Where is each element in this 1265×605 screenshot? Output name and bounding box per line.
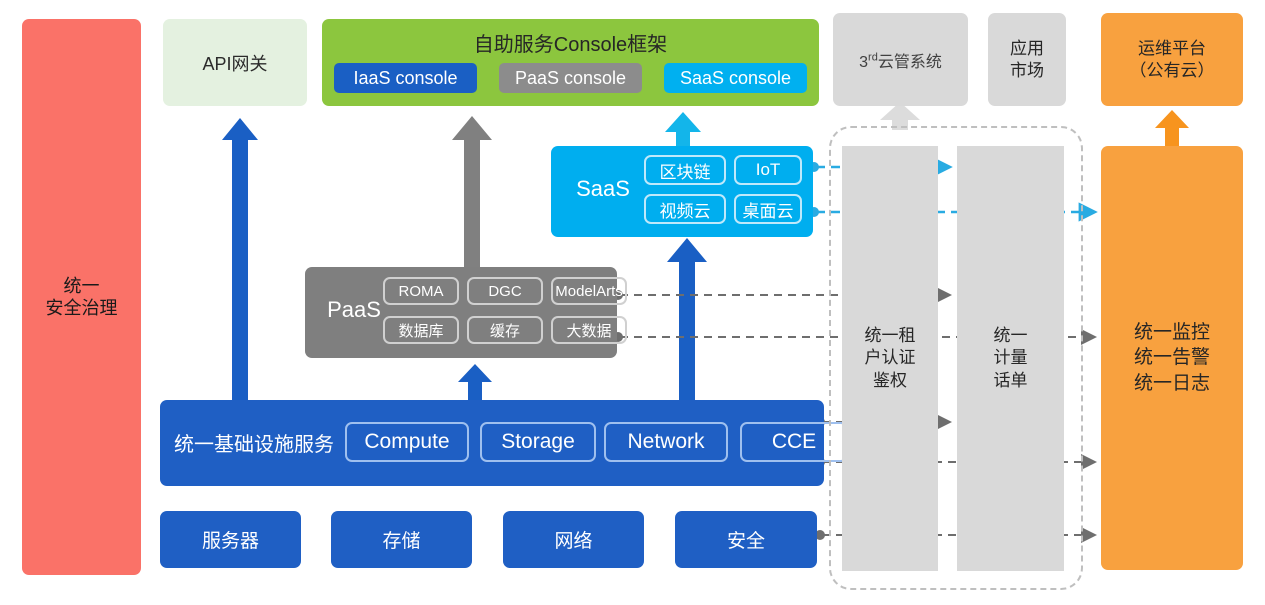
- saas-service-desktop-cloud[interactable]: 桌面云: [734, 194, 802, 224]
- third-party-cloud-management-box[interactable]: 3rd云管系统: [833, 13, 968, 106]
- infra-service-compute[interactable]: Compute: [345, 422, 469, 462]
- infra-service-network[interactable]: Network: [604, 422, 728, 462]
- third-party-rest: 云管系统: [878, 54, 942, 71]
- hardware-server-box[interactable]: 服务器: [160, 511, 301, 568]
- unified-metering-billing-column[interactable]: 统一 计量 话单: [957, 146, 1064, 571]
- saas-service-iot[interactable]: IoT: [734, 155, 802, 185]
- third-party-ordinal-suffix: rd: [868, 51, 878, 63]
- saas-layer-box[interactable]: SaaS 区块链 IoT 视频云 桌面云: [551, 146, 813, 237]
- app-market-box[interactable]: 应用 市场: [988, 13, 1066, 106]
- paas-service-modelarts[interactable]: ModelArts: [551, 277, 627, 305]
- arrow-paas-to-console: [452, 116, 492, 268]
- saas-service-blockchain[interactable]: 区块链: [644, 155, 726, 185]
- unified-infrastructure-service-bar[interactable]: 统一基础设施服务 Compute Storage Network CCE: [160, 400, 824, 486]
- paas-service-cache[interactable]: 缓存: [467, 316, 543, 344]
- unified-tenant-auth-column[interactable]: 统一租 户认证 鉴权: [842, 146, 938, 571]
- unified-security-governance-panel[interactable]: 统一 安全治理: [22, 19, 141, 575]
- arrow-infra-to-api-gateway: [222, 118, 258, 400]
- api-gateway-box[interactable]: API网关: [163, 19, 307, 106]
- hardware-storage-box[interactable]: 存储: [331, 511, 472, 568]
- self-service-console-framework[interactable]: 自助服务Console框架 IaaS console PaaS console …: [322, 19, 819, 106]
- infra-service-storage[interactable]: Storage: [480, 422, 596, 462]
- unified-monitoring-alarm-log-panel[interactable]: 统一监控 统一告警 统一日志: [1101, 146, 1243, 570]
- arrow-infra-to-paas: [458, 364, 492, 400]
- hardware-security-box[interactable]: 安全: [675, 511, 817, 568]
- third-party-number: 3: [859, 54, 868, 71]
- paas-service-database[interactable]: 数据库: [383, 316, 459, 344]
- hardware-network-box[interactable]: 网络: [503, 511, 644, 568]
- ops-platform-public-cloud-box[interactable]: 运维平台 （公有云）: [1101, 13, 1243, 106]
- arrow-infra-to-saas: [667, 238, 707, 400]
- paas-service-bigdata[interactable]: 大数据: [551, 316, 627, 344]
- paas-layer-box[interactable]: PaaS ROMA DGC ModelArts 数据库 缓存 大数据: [305, 267, 617, 358]
- iaas-console-pill[interactable]: IaaS console: [334, 63, 477, 93]
- console-framework-title: 自助服务Console框架: [322, 28, 819, 57]
- unified-infrastructure-label: 统一基础设施服务: [174, 428, 334, 457]
- arrow-saas-to-console: [665, 112, 701, 146]
- paas-console-pill[interactable]: PaaS console: [499, 63, 642, 93]
- arrow-to-ops-platform: [1155, 110, 1189, 146]
- paas-service-dgc[interactable]: DGC: [467, 277, 543, 305]
- saas-console-pill[interactable]: SaaS console: [664, 63, 807, 93]
- third-party-cloud-label: 3rd云管系统: [859, 48, 942, 72]
- saas-layer-label: SaaS: [561, 176, 645, 202]
- paas-service-roma[interactable]: ROMA: [383, 277, 459, 305]
- saas-service-video-cloud[interactable]: 视频云: [644, 194, 726, 224]
